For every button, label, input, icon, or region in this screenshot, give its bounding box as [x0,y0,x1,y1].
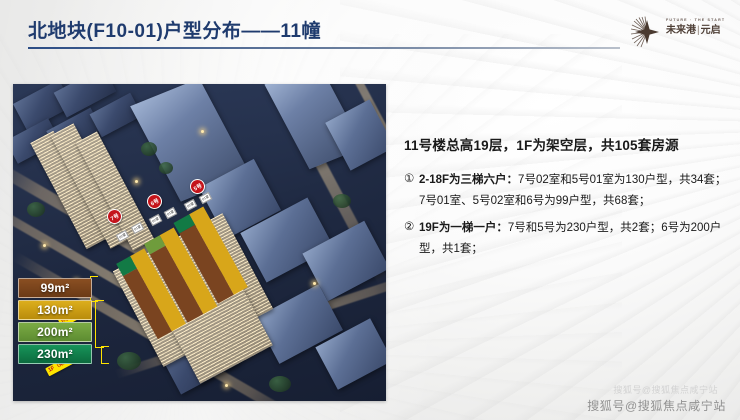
logo-star-glyph [635,20,659,44]
street-light [43,244,46,247]
unit-area-legend: 99m² 130m² 200m² 230m² [18,278,92,366]
tree-cluster [333,194,351,208]
watermark-ghost: 搜狐号@搜狐焦点咸宁站 [613,383,718,396]
tree-cluster [27,202,45,217]
street-light [135,180,138,183]
slide-header: 北地块(F10-01)户型分布——11幢 [0,0,740,62]
legend-item-230: 230m² [18,344,92,364]
description-item: ① 2-18F为三梯六户：7号02室和5号01室为130户型，共34套；7号01… [404,170,730,212]
street-light [201,130,204,133]
description-item-bold: 2-18F为三梯六户： [419,174,518,186]
page-title: 北地块(F10-01)户型分布——11幢 [28,16,321,43]
street-light [225,384,228,387]
description-item-bold: 19F为一梯一户： [419,222,508,234]
list-marker-1: ① [404,170,419,212]
title-underline-rule [28,47,620,49]
description-panel: 11号楼总高19层，1F为架空层，共105套房源 ① 2-18F为三梯六户：7号… [404,134,730,266]
logo-chinese-name: 未来港|元启 [666,24,726,38]
legend-item-200: 200m² [18,322,92,342]
tree-cluster [159,162,173,174]
logo-cn-left: 未来港 [666,25,696,36]
description-item-body: 19F为一梯一户：7号和5号为230户型，共2套；6号为200户型，共1套； [419,218,730,260]
street-light [313,282,316,285]
tree-cluster [141,142,157,156]
brand-logo: FUTURE · THE START 未来港|元启 [630,14,726,50]
logo-starburst-icon [630,16,664,48]
legend-item-130: 130m² [18,300,92,320]
floor-brace [95,300,104,348]
logo-wordmark: FUTURE · THE START 未来港|元启 [666,17,726,38]
logo-english-tagline: FUTURE · THE START [666,17,726,23]
slide-root: 北地块(F10-01)户型分布——11幢 [0,0,740,420]
panel-heading: 11号楼总高19层，1F为架空层，共105套房源 [404,134,730,154]
floor-brace [101,346,109,364]
tree-cluster [117,352,141,370]
description-item-body: 2-18F为三梯六户：7号02室和5号01室为130户型，共34套；7号01室、… [419,170,730,212]
list-marker-2: ② [404,218,419,260]
logo-cn-right: 元启 [701,25,721,36]
legend-item-99: 99m² [18,278,92,298]
description-item: ② 19F为一梯一户：7号和5号为230户型，共2套；6号为200户型，共1套； [404,218,730,260]
tree-cluster [269,376,291,392]
watermark: 搜狐号@搜狐焦点咸宁站 [587,397,726,414]
